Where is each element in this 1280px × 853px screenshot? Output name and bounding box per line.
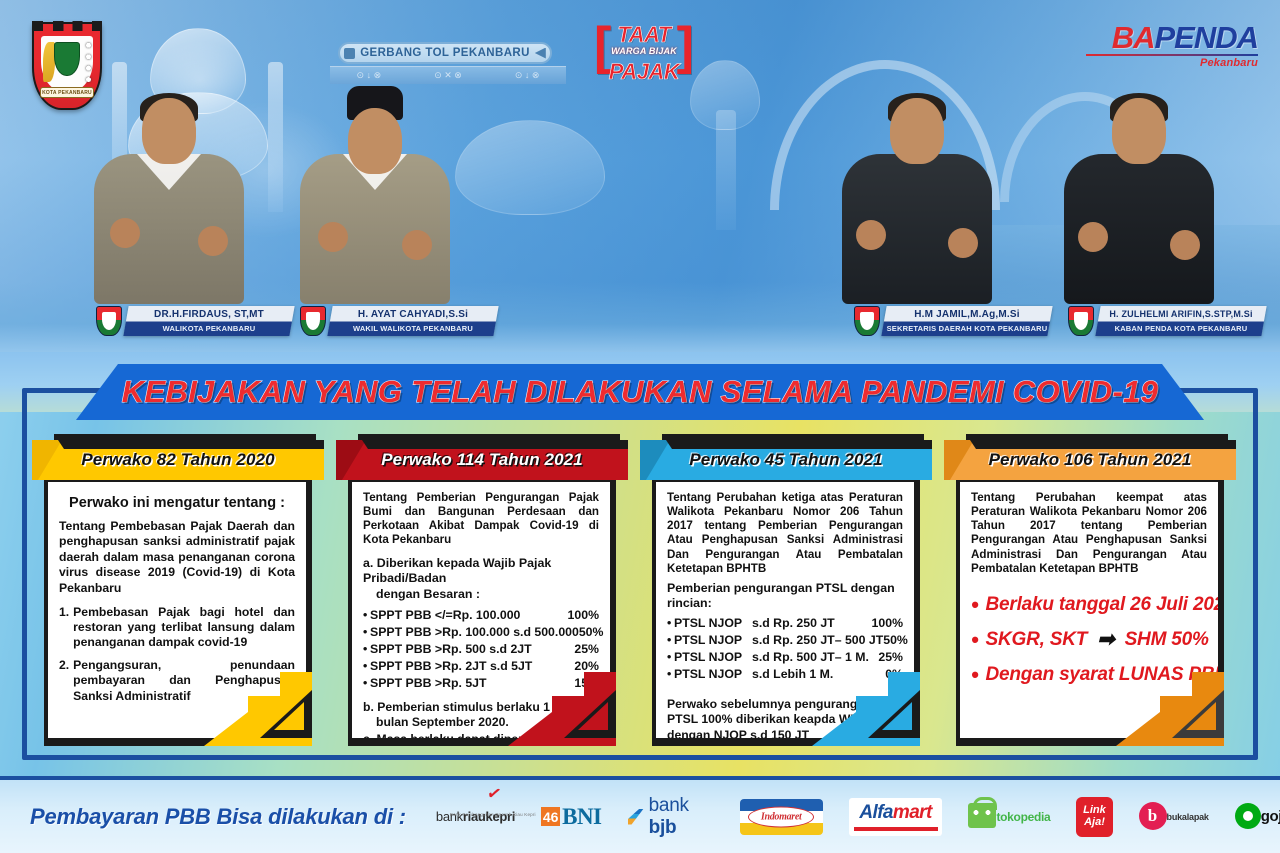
bullet-icon: • [363, 676, 370, 692]
partner-logo-linkaja[interactable]: Link Aja! [1076, 797, 1112, 837]
card-subhead: Pemberian pengurangan PTSL dengan rincia… [667, 581, 903, 612]
table-row: • SPPT PBB > Rp. 100.000 s.d 500.000 50% [363, 625, 599, 641]
highlight-pre: SKGR, SKT [986, 629, 1088, 651]
policy-card-3[interactable]: Perwako 45 Tahun 2021 Tentang Perubahan … [640, 434, 932, 754]
list-item-number: 2. [59, 658, 69, 703]
tokopedia-bag-icon [968, 803, 996, 828]
rate-label: PTSL NJOP [674, 667, 752, 683]
partner-logo-tokopedia[interactable]: tokopedia [968, 797, 1050, 837]
rate-range: Rp. 500 s.d 2JT [442, 642, 574, 658]
main-panel: KEBIJAKAN YANG TELAH DILAKUKAN SELAMA PA… [0, 352, 1280, 776]
toll-lane-marker-icon: ⊙ ↓ ⊗ [515, 70, 540, 81]
table-row: • SPPT PBB </= Rp. 100.000 100% [363, 608, 599, 624]
partner-logo-bukalapak[interactable]: b bukalapak [1139, 797, 1209, 837]
rate-label: SPPT PBB > [370, 642, 442, 658]
table-row: • PTSL NJOP s.d Rp. 250 JT 100% [667, 616, 903, 632]
toll-sign-pictogram-icon [344, 48, 355, 59]
payment-footer: Pembayaran PBB Bisa dilakukan di : bankr… [0, 776, 1280, 853]
rate-range: Rp. 100.000 [453, 608, 568, 624]
partner-logo-indomaret[interactable]: Indomaret [740, 799, 823, 835]
rate-percent: 50% [883, 633, 908, 649]
policy-card-1[interactable]: Perwako 82 Tahun 2020 Perwako ini mengat… [32, 434, 324, 754]
bni-46-mark-icon: 46 [541, 807, 560, 826]
official-role: SEKRETARIS DAERAH KOTA PEKANBARU [886, 322, 1048, 335]
highlight-item: • Berlaku tanggal 26 Juli 2021 [971, 594, 1207, 616]
bullet-icon: • [667, 667, 674, 683]
bullet-icon: • [971, 664, 979, 686]
card-body-2: Tentang Pemberian Pengurangan Pajak Bumi… [348, 480, 616, 746]
indomaret-wordmark: Indomaret [748, 806, 814, 827]
card-corner-decoration-1 [204, 672, 312, 746]
bapenda-logo-part2: PENDA [1154, 20, 1258, 55]
rate-range: Rp. 100.000 s.d 500.000 [442, 625, 579, 641]
riau-tagline: Bank Pembangunan Daerah Riau Kepri [450, 812, 536, 817]
official-role: WALIKOTA PEKANBARU [128, 322, 290, 335]
bullet-icon: • [363, 625, 370, 641]
list-item-text: Pembebasan Pajak bagi hotel dan restoran… [73, 605, 295, 650]
bullet-icon: • [667, 633, 674, 649]
bullet-icon: • [971, 594, 979, 616]
official-photo-1 [94, 98, 244, 304]
official-namebar-2: H. AYAT CAHYADI,S.Si WAKIL WALIKOTA PEKA… [300, 306, 496, 336]
official-photo-3 [842, 98, 992, 304]
table-row: • PTSL NJOP s.d Rp. 500 JT– 1 M. 25% [667, 650, 903, 666]
linkaja-line1: Link [1083, 805, 1106, 817]
list-item-number: 1. [59, 605, 69, 650]
bullet-icon: • [667, 616, 674, 632]
card-header-label: Perwako 82 Tahun 2020 [81, 450, 274, 470]
city-crest-icon [300, 306, 326, 336]
card-item-a-line1: a. Diberikan kepada Wajib Pajak Pribadi/… [363, 556, 551, 586]
official-photo-4 [1064, 98, 1214, 304]
poster-root: KOTA PEKANBARU GERBANG TOL PEKANBARU ⊙ ↓… [0, 0, 1280, 853]
official-role: WAKIL WALIKOTA PEKANBARU [332, 322, 494, 335]
highlight-item: • SKGR, SKT ➡ SHM 50% [971, 629, 1207, 651]
toll-gantry-bar: ⊙ ↓ ⊗ ⊙ ✕ ⊗ ⊙ ↓ ⊗ [330, 66, 566, 84]
toll-sign-label: GERBANG TOL PEKANBARU [360, 47, 530, 59]
bjb-part2: bjb [649, 817, 677, 838]
card-paragraph: Tentang Pemberian Pengurangan Pajak Bumi… [363, 491, 599, 548]
partner-logo-bankriaukepri[interactable]: bankriaukepri ✓ Bank Pembangunan Daerah … [436, 797, 515, 837]
alfa-part2: mart [893, 802, 932, 823]
policy-cards-container: Perwako 82 Tahun 2020 Perwako ini mengat… [32, 434, 1248, 754]
bullet-icon: • [667, 650, 674, 666]
rate-label: SPPT PBB > [370, 625, 442, 641]
linkaja-line2: Aja! [1084, 817, 1105, 829]
alfamart-underbar-icon [854, 827, 938, 831]
card-corner-decoration-3 [812, 672, 920, 746]
bukalapak-b-mark-icon: b [1139, 802, 1167, 830]
card-paragraph: Tentang Perubahan keempat atas Peraturan… [971, 491, 1207, 576]
bni-wordmark: BNI [562, 804, 601, 830]
riau-checkmark-icon: ✓ [485, 782, 503, 804]
bullet-icon: • [363, 659, 370, 675]
official-namebar-3: H.M JAMIL,M.Ag,M.Si SEKRETARIS DAERAH KO… [854, 306, 1050, 336]
toll-lane-marker-icon: ⊙ ✕ ⊗ [434, 70, 462, 81]
list-item: 1. Pembebasan Pajak bagi hotel dan resto… [59, 605, 295, 650]
badge-sub: WARGA BIJAK [596, 46, 692, 56]
card-header-3: Perwako 45 Tahun 2021 [640, 440, 932, 480]
card-corner-decoration-2 [508, 672, 616, 746]
rate-percent: 100% [872, 616, 903, 632]
highlight-post: SHM 50% [1125, 629, 1209, 651]
city-crest-icon [854, 306, 880, 336]
tokopedia-wordmark: tokopedia [996, 810, 1050, 824]
city-crest-icon [1068, 306, 1094, 336]
coat-of-arms-label: KOTA PEKANBARU [40, 87, 94, 98]
policy-card-2[interactable]: Perwako 114 Tahun 2021 Tentang Pemberian… [336, 434, 628, 754]
card-header-label: Perwako 45 Tahun 2021 [689, 450, 882, 470]
page-title: KEBIJAKAN YANG TELAH DILAKUKAN SELAMA PA… [122, 374, 1158, 410]
partner-logo-gojek[interactable]: gojek [1235, 797, 1280, 837]
gojek-wordmark: gojek [1261, 808, 1280, 825]
main-title-ribbon: KEBIJAKAN YANG TELAH DILAKUKAN SELAMA PA… [76, 364, 1204, 420]
official-name: H. ZULHELMI ARIFIN,S.STP,M.Si [1100, 307, 1262, 322]
bullet-icon: • [971, 629, 979, 651]
toll-gate-sign: GERBANG TOL PEKANBARU [338, 42, 552, 64]
partner-logo-bankbjb[interactable]: bank bjb [628, 797, 714, 837]
footer-label: Pembayaran PBB Bisa dilakukan di : [30, 804, 406, 830]
rate-label: PTSL NJOP [674, 616, 752, 632]
official-role: KABAN PENDA KOTA PEKANBARU [1100, 322, 1262, 335]
official-name: H. AYAT CAHYADI,S.Si [332, 307, 494, 322]
official-name: H.M JAMIL,M.Ag,M.Si [886, 307, 1048, 322]
rate-range: s.d Rp. 250 JT [752, 616, 872, 632]
rate-label: SPPT PBB > [370, 659, 442, 675]
table-row: • PTSL NJOP s.d Rp. 250 JT– 500 JT 50% [667, 633, 903, 649]
official-name: DR.H.FIRDAUS, ST,MT [128, 307, 290, 322]
minaret-icon [268, 62, 283, 212]
card-header-1: Perwako 82 Tahun 2020 [32, 440, 324, 480]
card-header-label: Perwako 114 Tahun 2021 [381, 450, 583, 470]
card-subhead-line2: rincian: [667, 596, 903, 612]
pekanbaru-coat-of-arms-icon: KOTA PEKANBARU [32, 22, 102, 110]
highlight-text: Berlaku tanggal 26 Juli 2021 [986, 594, 1218, 616]
badge-line-2: PAJAK [596, 59, 692, 85]
card-item-a: a. Diberikan kepada Wajib Pajak Pribadi/… [363, 556, 599, 603]
tower-shaft-icon [716, 110, 736, 230]
rate-percent: 100% [568, 608, 599, 624]
card-subtitle: Perwako ini mengatur tentang : [59, 495, 295, 511]
partner-logo-alfamart[interactable]: Alfamart [849, 798, 943, 836]
payment-partner-logos: bankriaukepri ✓ Bank Pembangunan Daerah … [436, 797, 1280, 837]
rate-percent: 50% [579, 625, 604, 641]
card-subhead-line1: Pemberian pengurangan PTSL dengan [667, 581, 895, 595]
official-namebar-1: DR.H.FIRDAUS, ST,MT WALIKOTA PEKANBARU [96, 306, 292, 336]
rate-label: SPPT PBB </= [370, 608, 453, 624]
bjb-swoosh-icon [628, 809, 644, 825]
bapenda-logo-part1: BA [1112, 20, 1155, 55]
bjb-part1: bank [649, 795, 689, 816]
bapenda-logo-sub: Pekanbaru [1086, 57, 1258, 69]
table-row: • SPPT PBB > Rp. 500 s.d 2JT 25% [363, 642, 599, 658]
toll-arrow-icon [535, 48, 546, 59]
card-header-label: Perwako 106 Tahun 2021 [989, 450, 1192, 470]
gojek-circle-icon [1235, 803, 1261, 829]
rate-label: PTSL NJOP [674, 633, 752, 649]
city-crest-icon [96, 306, 122, 336]
badge-line-1: TAAT [596, 22, 692, 48]
card-body-1: Perwako ini mengatur tentang : Tentang P… [44, 480, 312, 746]
rate-range: s.d Rp. 500 JT– 1 M. [752, 650, 878, 666]
hero-banner: KOTA PEKANBARU GERBANG TOL PEKANBARU ⊙ ↓… [0, 0, 1280, 352]
toll-lane-marker-icon: ⊙ ↓ ⊗ [357, 70, 382, 81]
partner-logo-bni[interactable]: 46 BNI [541, 797, 601, 837]
rate-label: PTSL NJOP [674, 650, 752, 666]
arrow-right-icon: ➡ [1097, 629, 1114, 650]
policy-card-4[interactable]: Perwako 106 Tahun 2021 Tentang Perubahan… [944, 434, 1236, 754]
official-namebar-4: H. ZULHELMI ARIFIN,S.STP,M.Si KABAN PEND… [1068, 306, 1264, 336]
taat-pajak-badge: [ ] TAAT WARGA BIJAK PAJAK [596, 18, 692, 82]
alfa-part1: Alfa [859, 802, 893, 823]
rate-percent: 25% [878, 650, 903, 666]
card-body-4: Tentang Perubahan keempat atas Peraturan… [956, 480, 1224, 746]
card-item-a-line2: dengan Besaran : [363, 587, 599, 603]
bapenda-logo: BAPENDA Pekanbaru [1086, 22, 1258, 70]
building-dome-icon [455, 120, 605, 215]
bukalapak-wordmark: bukalapak [1167, 812, 1209, 822]
card-corner-decoration-4 [1116, 672, 1224, 746]
rate-percent: 25% [574, 642, 599, 658]
card-paragraph: Tentang Perubahan ketiga atas Peraturan … [667, 491, 903, 576]
rate-label: SPPT PBB > [370, 676, 442, 692]
official-photo-2 [300, 98, 450, 304]
bullet-icon: • [363, 608, 370, 624]
card-body-3: Tentang Perubahan ketiga atas Peraturan … [652, 480, 920, 746]
card-header-4: Perwako 106 Tahun 2021 [944, 440, 1236, 480]
card-header-2: Perwako 114 Tahun 2021 [336, 440, 628, 480]
rate-range: s.d Rp. 250 JT– 500 JT [752, 633, 883, 649]
bullet-icon: • [363, 642, 370, 658]
card-paragraph: Tentang Pembebasan Pajak Daerah dan peng… [59, 519, 295, 596]
